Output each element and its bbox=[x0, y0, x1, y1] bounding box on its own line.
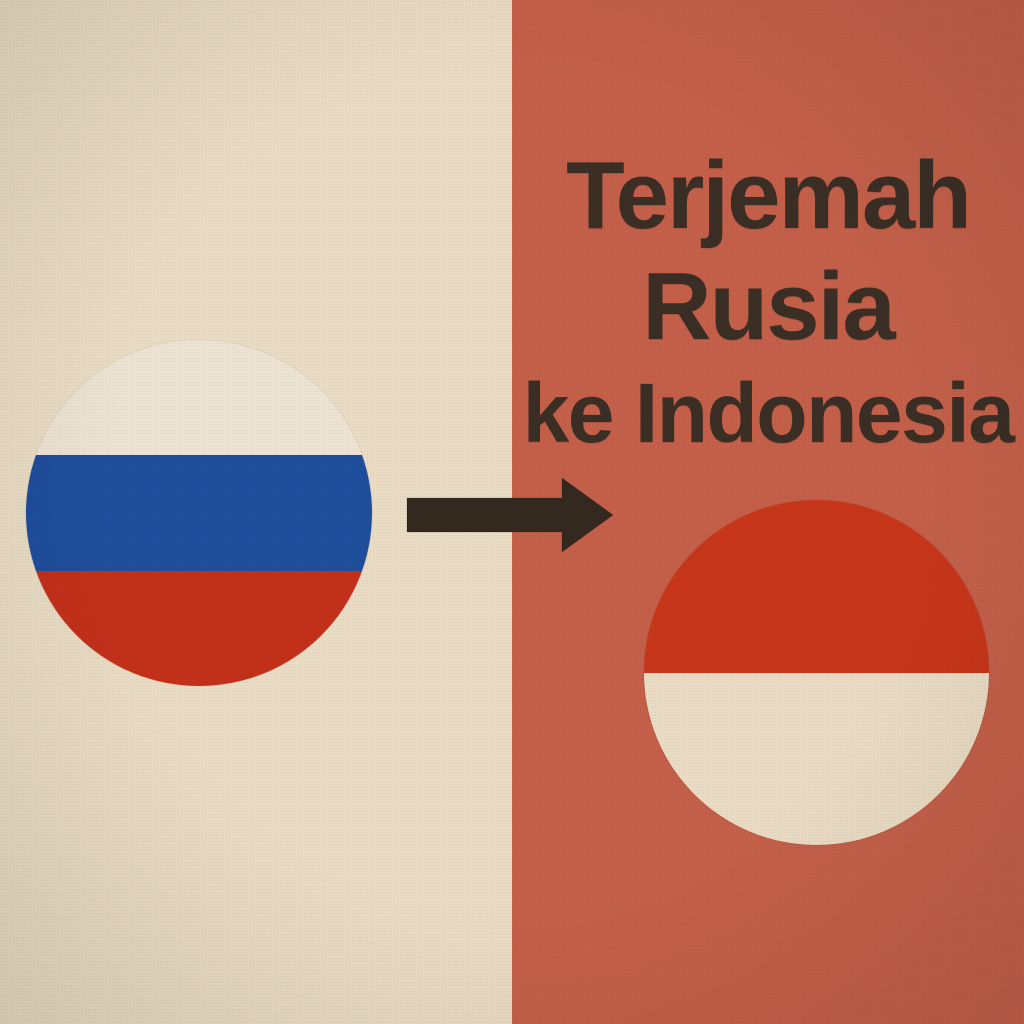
arrow-right-icon bbox=[405, 474, 615, 556]
target-flag-indonesia bbox=[644, 500, 989, 845]
headline-line-3: ke Indonesia bbox=[512, 365, 1024, 462]
source-flag-russia bbox=[26, 340, 372, 686]
headline-line-1: Terjemah bbox=[512, 140, 1024, 251]
headline: Terjemah Rusia ke Indonesia bbox=[512, 140, 1024, 462]
translation-poster: Terjemah Rusia ke Indonesia bbox=[0, 0, 1024, 1024]
headline-line-2: Rusia bbox=[512, 251, 1024, 362]
russia-blue-stripe bbox=[26, 455, 372, 570]
